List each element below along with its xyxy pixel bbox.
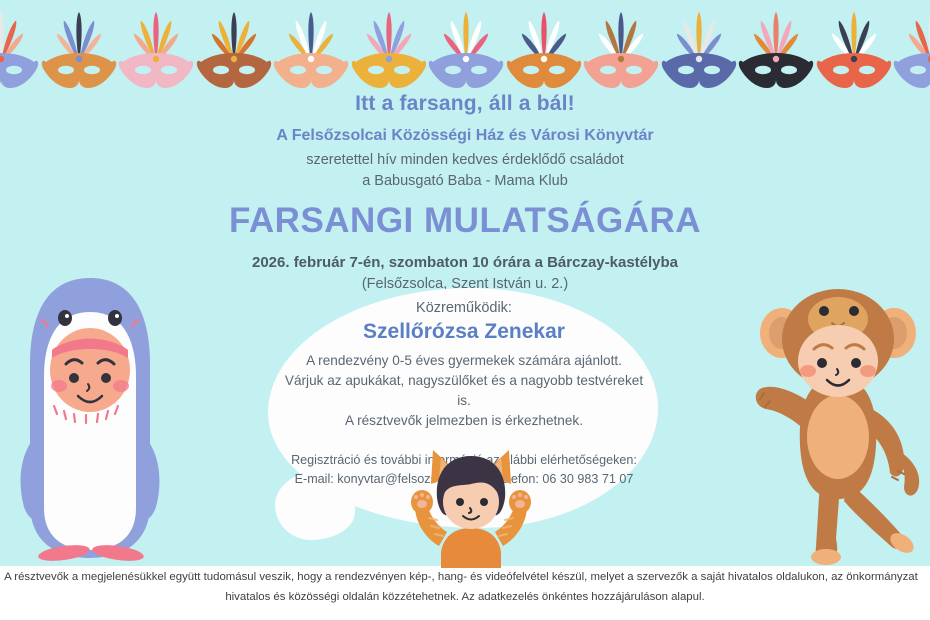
mask-salmon-graphic [582,0,660,95]
mask-black [737,0,815,95]
cat-costume-child [405,440,540,568]
mask-coral [815,0,893,95]
mask-indigo-graphic [427,0,505,95]
performer-label: Közreműködik: [278,300,650,316]
info-line-3: A résztvevők jelmezben is érkezhetnek. [278,411,650,431]
mask-blue-graphic [892,0,930,95]
poster-canvas: Itt a farsang, áll a bál! A Felsőzsolcai… [0,0,930,620]
mask-eye-hole-left [755,66,771,74]
monkey-hood-eye-right [849,306,859,316]
mask-orange2-graphic [505,0,583,95]
mask-eye-hole-right [704,66,720,74]
mask-coral-graphic [815,0,893,95]
mask-eye-hole-right [394,66,410,74]
mask-peach-graphic [272,0,350,95]
mask-navy [660,0,738,95]
mask-gem [308,56,314,62]
mask-eye-hole-left [910,66,926,74]
cat-eye-right [480,498,488,506]
penguin-hood-eye-right [108,310,122,326]
mask-eye-hole-right [6,66,22,74]
mask-orange-graphic [40,0,118,95]
mask-blue [0,0,40,95]
mask-eye-hole-left [368,66,384,74]
penguin-hood-eye-left [58,310,72,326]
monkey-blush-left [800,365,816,377]
mask-gem [385,56,391,62]
mask-pink-graphic [117,0,195,95]
monkey-costume-child [752,285,924,567]
mask-eye-hole-right [781,66,797,74]
mask-gem [695,56,701,62]
mask-blue [892,0,930,95]
mask-orange [40,0,118,95]
mask-orange2 [505,0,583,95]
mask-eye-hole-left [290,66,306,74]
penguin-hood-eye-glint-right [115,314,119,318]
event-title: FARSANGI MULATSÁGÁRA [0,201,930,241]
performer-name: Szellőrózsa Zenekar [278,320,650,344]
poster-headline: Itt a farsang, áll a bál! [0,92,930,116]
invite-line-2: a Babusgató Baba - Mama Klub [0,171,930,192]
mask-brown-graphic [195,0,273,95]
monkey-foot-left [811,549,841,565]
mask-gem [540,56,546,62]
monkey-blush-right [860,365,876,377]
mask-gem [230,56,236,62]
mask-eye-hole-right [161,66,177,74]
mask-gem [850,56,856,62]
monkey-belly [807,395,869,479]
mask-eye-hole-left [600,66,616,74]
mask-eye-hole-right [239,66,255,74]
invite-line-1: szeretettel hív minden kedves érdeklődő … [0,150,930,171]
mask-eye-hole-right [316,66,332,74]
mask-navy-graphic [660,0,738,95]
monkey-hood-eye-left [819,306,829,316]
mask-eye-hole-left [833,66,849,74]
cat-shirt [441,528,501,568]
mask-brown [195,0,273,95]
mask-pink [117,0,195,95]
disclaimer-text: A résztvevők a megjelenésükkel együtt tu… [0,568,930,607]
mask-eye-hole-right [626,66,642,74]
monkey-eye-left [817,358,827,368]
carnival-mask-border [0,0,930,95]
mask-eye-hole-right [471,66,487,74]
monkey-eye-right [851,358,861,368]
info-line-2: Várjuk az apukákat, nagyszülőket és a na… [278,371,650,411]
mask-eye-hole-left [678,66,694,74]
mask-eye-hole-left [445,66,461,74]
mask-eye-hole-right [549,66,565,74]
mask-eye-hole-left [213,66,229,74]
mask-indigo [427,0,505,95]
mask-blue-graphic [0,0,40,95]
poster-text-block: Itt a farsang, áll a bál! A Felsőzsolcai… [0,92,930,292]
mask-eye-hole-right [859,66,875,74]
mask-eye-hole-left [58,66,74,74]
mask-eye-hole-left [135,66,151,74]
cat-eye-left [456,498,464,506]
mask-yellow-graphic [350,0,428,95]
penguin-costume-child [10,272,170,567]
disclaimer-line-2: hivatalos és közösségi oldalán közzétehe… [0,588,930,608]
penguin-hood-eye-glint-left [65,314,69,318]
disclaimer-line-1: A résztvevők a megjelenésükkel együtt tu… [0,568,930,588]
mask-gem [618,56,624,62]
mask-eye-hole-right [84,66,100,74]
organizer-name: A Felsőzsolcai Közösségi Ház és Városi K… [0,127,930,145]
penguin-eye-left [69,373,79,383]
penguin-eye-right [101,373,111,383]
penguin-blush-left [51,380,67,392]
mask-peach [272,0,350,95]
mask-gem [773,56,779,62]
mask-gem [153,56,159,62]
mask-black-graphic [737,0,815,95]
mask-eye-hole-left [523,66,539,74]
mask-salmon [582,0,660,95]
mask-gem [75,56,81,62]
event-date: 2026. február 7-én, szombaton 10 órára a… [0,254,930,271]
mask-yellow [350,0,428,95]
mask-gem [463,56,469,62]
penguin-blush-right [113,380,129,392]
info-line-1: A rendezvény 0-5 éves gyermekek számára … [278,351,650,371]
